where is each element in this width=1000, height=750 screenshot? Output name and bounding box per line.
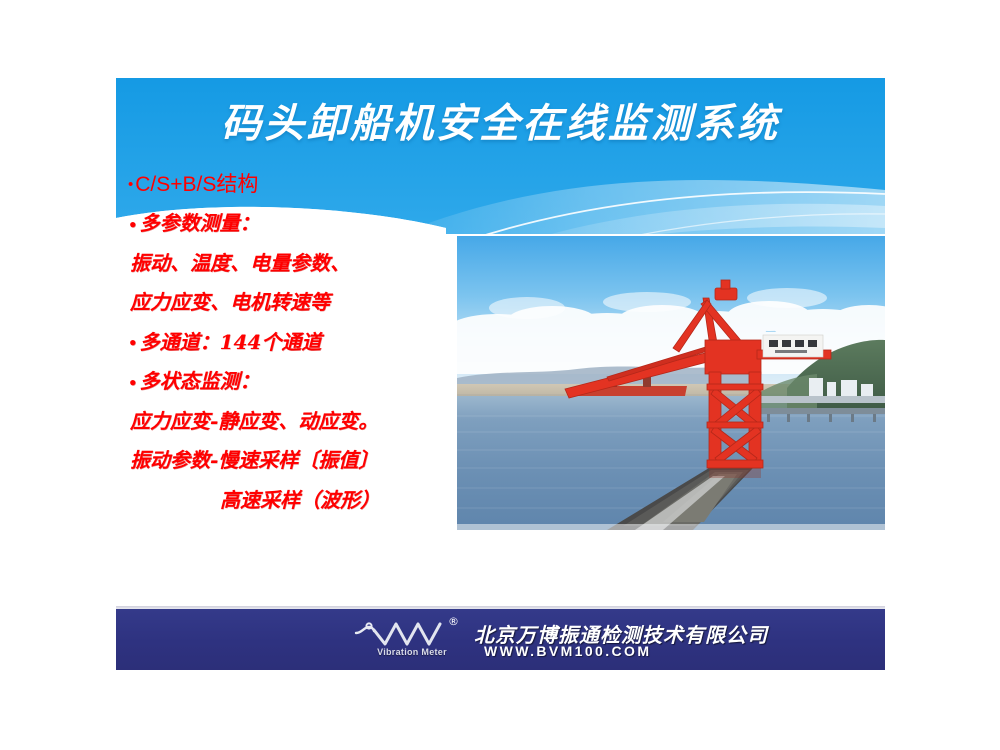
bullet-marker-1: • bbox=[128, 216, 140, 234]
bullet-item-1: •多参数测量： bbox=[128, 204, 483, 244]
logo-wordmark: Vibration Meter bbox=[360, 647, 464, 657]
bullet-text-7: 振动参数-慢速采样〔振值〕 bbox=[130, 448, 378, 472]
vibration-wave-icon bbox=[352, 617, 462, 651]
harbour-crane-photo bbox=[457, 236, 885, 530]
bullet-item-8: 高速采样（波形） bbox=[128, 481, 483, 521]
registered-trademark-icon: ® bbox=[448, 615, 459, 628]
footer-bar: ® Vibration Meter 北京万博振通检测技术有限公司 WWW.BVM… bbox=[116, 609, 885, 670]
slide-canvas: 码头卸船机安全在线监测系统 •C/S+B/S结构 •多参数测量： 振动、温度、电… bbox=[0, 0, 1000, 750]
slide-title: 码头卸船机安全在线监测系统 bbox=[116, 104, 885, 144]
bullet-item-3: 应力应变、电机转速等 bbox=[128, 283, 483, 323]
bullet-text-1: 多参数测量： bbox=[140, 211, 260, 235]
bullet-item-4: •多通道：144个通道 bbox=[128, 323, 483, 363]
bullet-text-5: 多状态监测： bbox=[140, 369, 260, 393]
bullet-marker-4: • bbox=[128, 334, 140, 352]
bullet-item-2: 振动、温度、电量参数、 bbox=[128, 244, 483, 284]
company-logo: ® Vibration Meter bbox=[352, 617, 470, 663]
bullet-item-5: •多状态监测： bbox=[128, 362, 483, 402]
bullet-item-7: 振动参数-慢速采样〔振值〕 bbox=[128, 441, 483, 481]
bullet-text-4: 多通道：144个通道 bbox=[140, 330, 322, 354]
bullet-item-0: •C/S+B/S结构 bbox=[128, 166, 483, 204]
bullet-item-6: 应力应变-静应变、动应变。 bbox=[128, 402, 483, 442]
bullet-marker-5: • bbox=[128, 374, 140, 392]
photo-artwork bbox=[457, 236, 885, 530]
bullet-text-2: 振动、温度、电量参数、 bbox=[130, 251, 350, 275]
bullet-list: •C/S+B/S结构 •多参数测量： 振动、温度、电量参数、 应力应变、电机转速… bbox=[128, 166, 483, 520]
presentation-slide: 码头卸船机安全在线监测系统 •C/S+B/S结构 •多参数测量： 振动、温度、电… bbox=[116, 78, 885, 670]
bullet-text-3: 应力应变、电机转速等 bbox=[130, 290, 330, 314]
bullet-text-8: 高速采样（波形） bbox=[220, 488, 380, 512]
bullet-text-0: C/S+B/S结构 bbox=[135, 173, 258, 196]
bullet-text-6: 应力应变-静应变、动应变。 bbox=[130, 409, 378, 433]
company-url: WWW.BVM100.COM bbox=[484, 643, 651, 659]
